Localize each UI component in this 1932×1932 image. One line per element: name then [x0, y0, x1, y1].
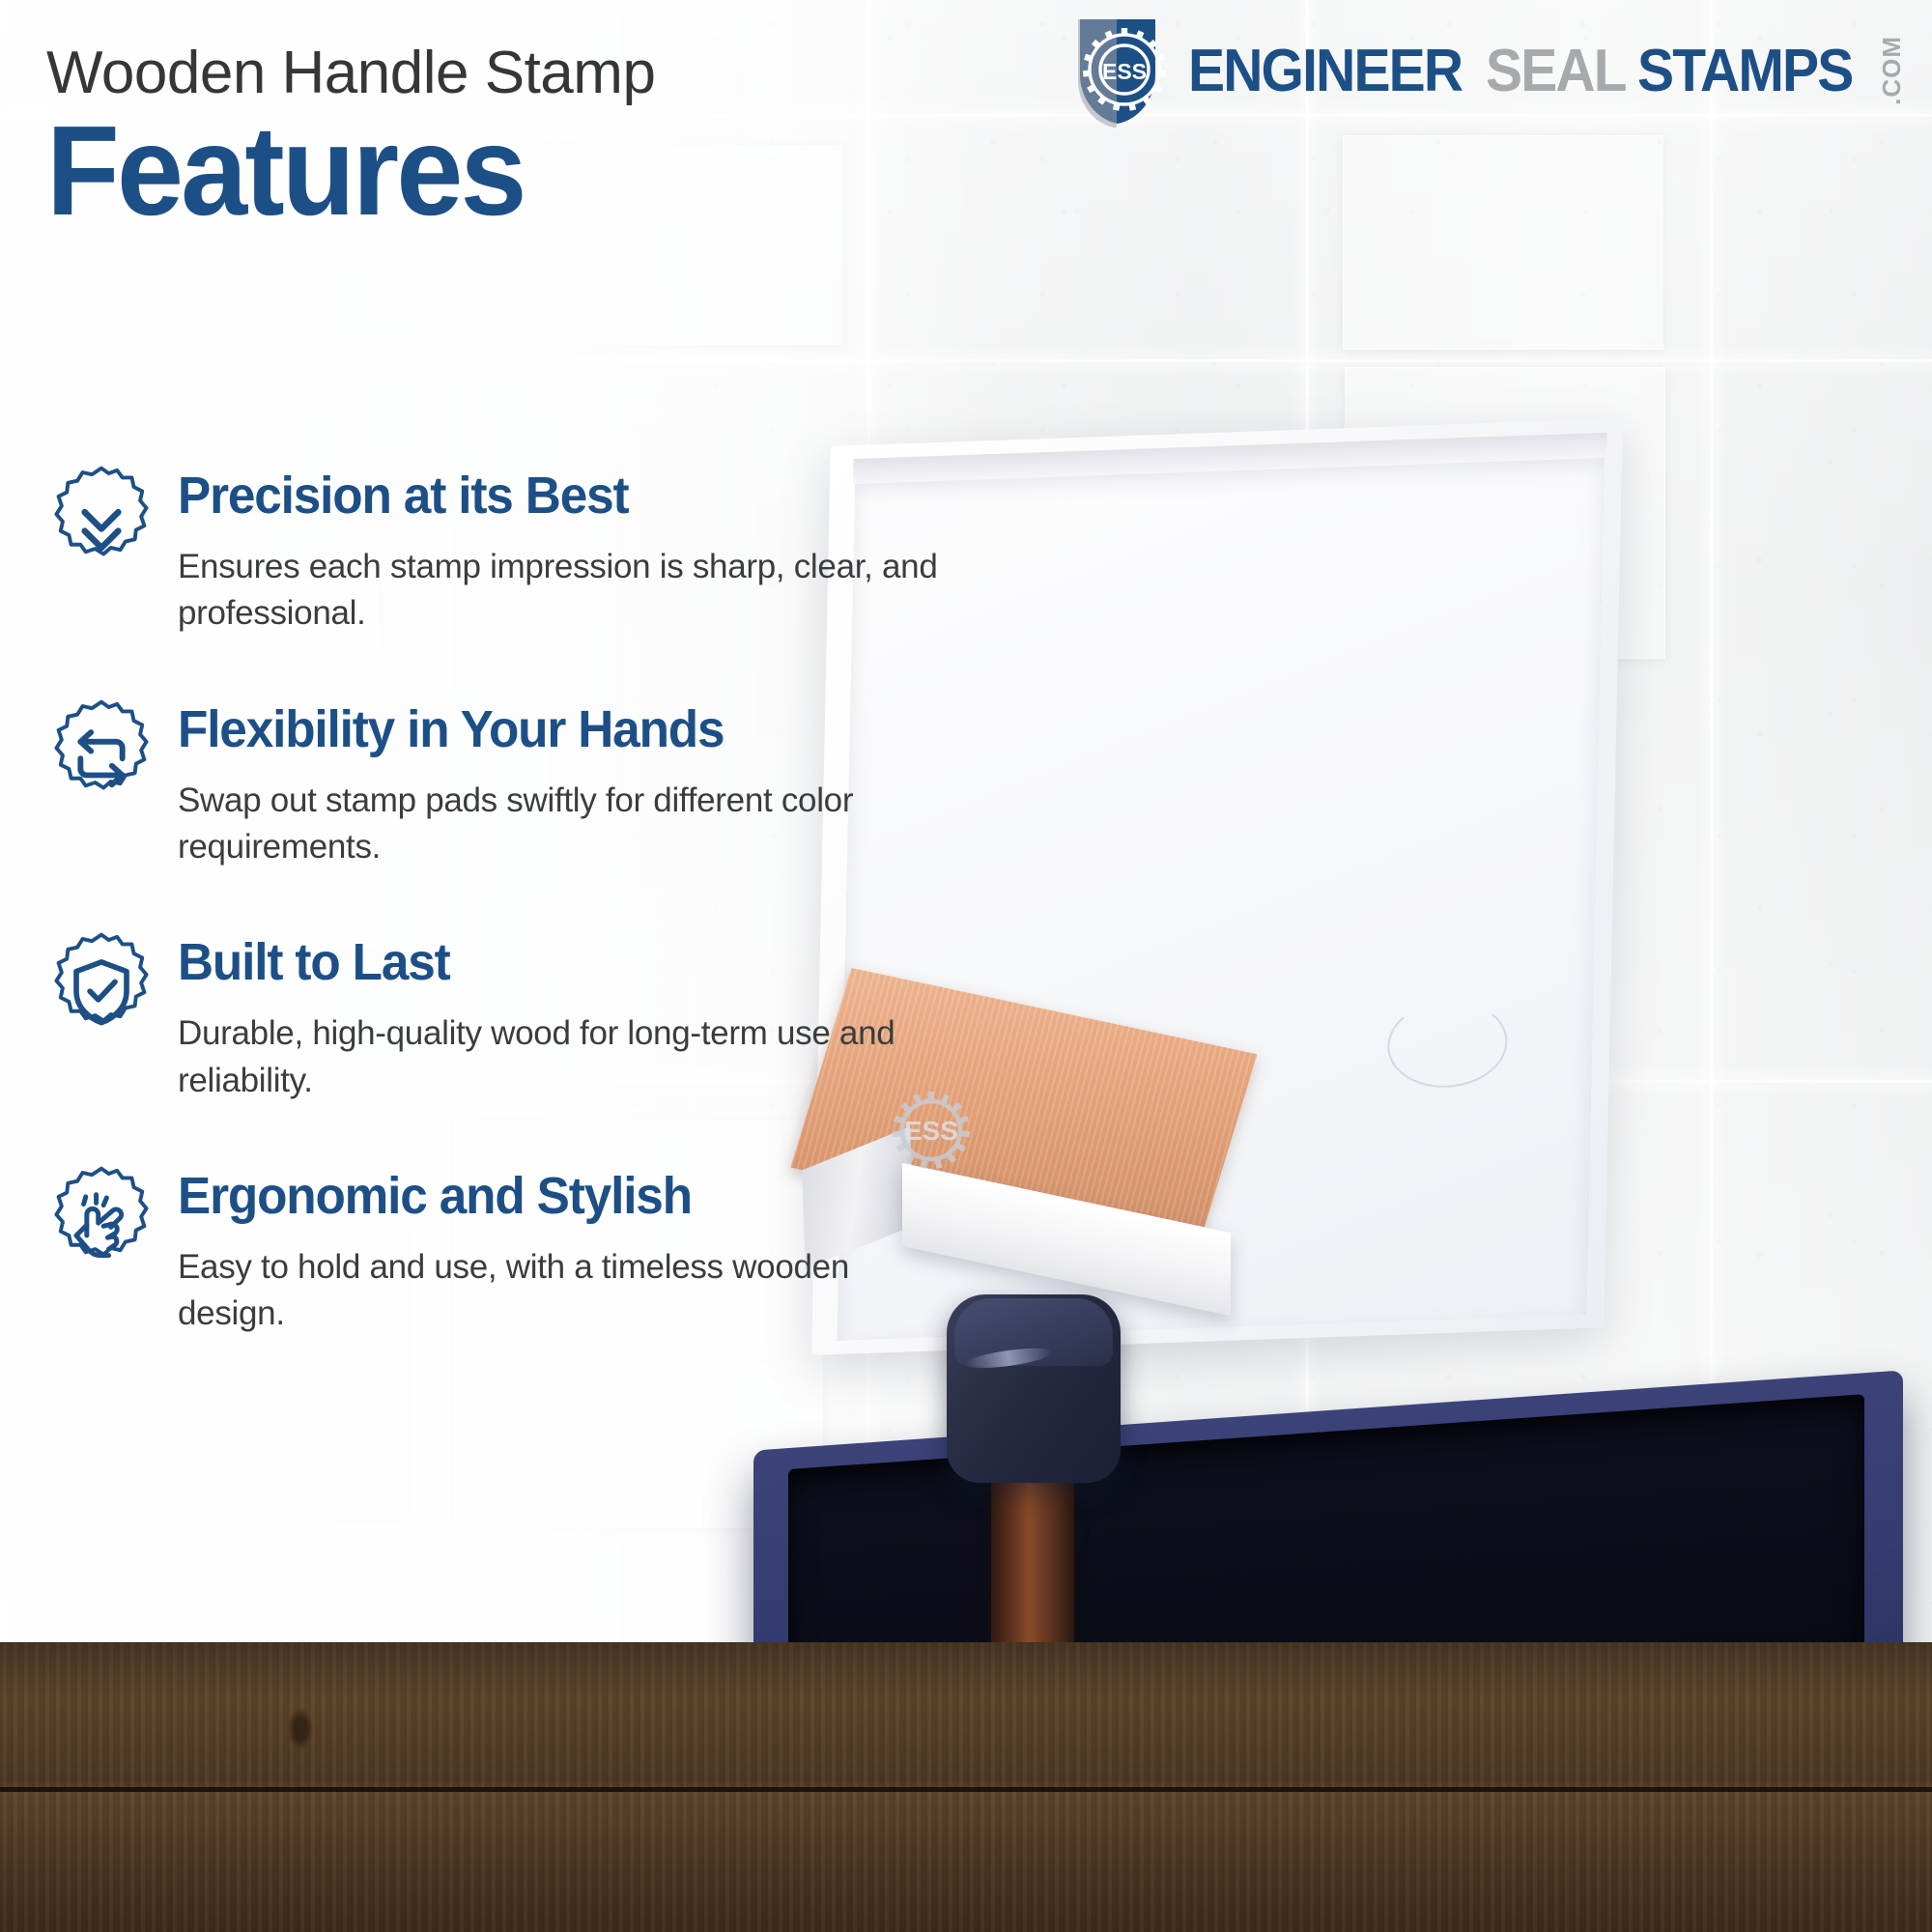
tap-hand-badge-icon — [39, 1160, 164, 1286]
wordmark-dotcom: .COM — [1877, 36, 1907, 105]
brand-wordmark: ENGINEER SEAL STAMPS .COM — [1188, 36, 1907, 107]
feature-description: Durable, high-quality wood for long-term… — [178, 1010, 951, 1104]
feature-description: Swap out stamp pads swiftly for differen… — [178, 778, 951, 871]
feature-title: Flexibility in Your Hands — [178, 703, 981, 756]
product-photo: ESS — [927, 386, 1932, 1855]
swap-arrows-badge-icon — [39, 694, 164, 819]
double-chevron-down-badge-icon — [39, 460, 164, 585]
table-plank-gap — [0, 1787, 1932, 1792]
feature-item: Built to Last Durable, high-quality wood… — [39, 921, 1024, 1104]
feature-text: Precision at its Best Ensures each stamp… — [178, 454, 1024, 638]
gear-seal-icon: ESS — [1068, 14, 1184, 129]
feature-title: Built to Last — [178, 936, 981, 989]
wordmark-seal: SEAL — [1486, 42, 1626, 101]
table-contact-shadow — [0, 1642, 1932, 1700]
wordmark-stamps: STAMPS — [1637, 42, 1852, 101]
feature-item: Ergonomic and Stylish Easy to hold and u… — [39, 1154, 1024, 1338]
stamp-shaft-highlight — [987, 1480, 1078, 1530]
feature-item: Precision at its Best Ensures each stamp… — [39, 454, 1024, 638]
feature-description: Ensures each stamp impression is sharp, … — [178, 544, 951, 638]
header: Wooden Handle Stamp Features — [46, 43, 1167, 233]
infographic-canvas: Wooden Handle Stamp Features — [0, 0, 1932, 1932]
feature-text: Built to Last Durable, high-quality wood… — [178, 921, 1024, 1104]
brand-logo[interactable]: ESS ENGINEER SEAL STAMPS .COM — [1068, 14, 1907, 129]
feature-list: Precision at its Best Ensures each stamp… — [39, 454, 1024, 1388]
feature-text: Flexibility in Your Hands Swap out stamp… — [178, 688, 1024, 871]
feature-description: Easy to hold and use, with a timeless wo… — [178, 1244, 951, 1338]
feature-text: Ergonomic and Stylish Easy to hold and u… — [178, 1154, 1024, 1338]
wordmark-engineer: ENGINEER — [1188, 42, 1462, 101]
page-subtitle: Wooden Handle Stamp — [46, 43, 1167, 104]
feature-title: Precision at its Best — [178, 469, 981, 523]
background-sheet — [1343, 135, 1663, 350]
page-title: Features — [46, 110, 1099, 233]
badge-text: ESS — [1102, 59, 1147, 84]
shield-check-badge-icon — [39, 926, 164, 1052]
feature-title: Ergonomic and Stylish — [178, 1170, 981, 1223]
feature-item: Flexibility in Your Hands Swap out stamp… — [39, 688, 1024, 871]
table-wood-knot — [288, 1708, 313, 1750]
